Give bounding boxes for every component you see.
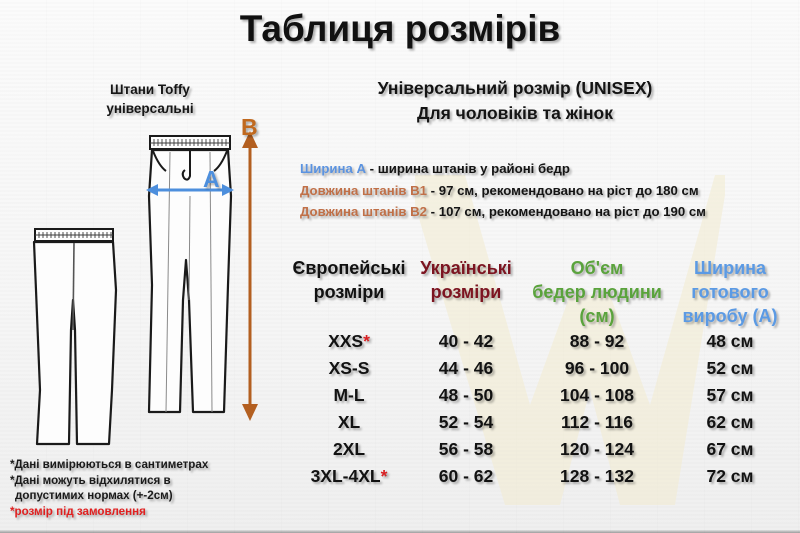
cell-eu-size: XXS* [288,328,410,355]
legend-key-length-b1: Довжина штанів В1 [300,183,427,198]
eu-size-text: XS-S [329,358,370,378]
cell-product-width: 52 см [672,355,788,382]
header-width-line-3: виробу (А) [672,304,788,328]
footnotes: *Дані вимірюються в сантиметрах *Дані мо… [10,457,265,519]
cell-product-width: 67 см [672,436,788,463]
table-row: 2XL 56 - 58 120 - 124 67 см [288,436,788,463]
eu-size-star: * [363,331,370,351]
cell-hip-volume: 104 - 108 [522,382,672,409]
eu-size-text: 3XL-4XL [311,466,381,486]
cell-hip-volume: 96 - 100 [522,355,672,382]
eu-size-star: * [381,466,388,486]
table-row: XL 52 - 54 112 - 116 62 см [288,409,788,436]
cell-ua-size: 60 - 62 [410,463,522,490]
header-ua-line-2: розміри [410,280,522,304]
legend-row-a: Ширина А - ширина штанів у районі бедр [300,158,790,180]
header-hip-line-2: бедер людини [522,280,672,304]
pants-back-view [34,229,116,444]
cell-product-width: 48 см [672,328,788,355]
footnote-line-4: *розмір під замовлення [10,504,265,520]
subtitle-line-2: Для чоловіків та жінок [285,101,745,126]
table-header-row: Європейські розміри Українські розміри О… [288,256,788,328]
size-table: Європейські розміри Українські розміри О… [288,256,788,490]
illustration-caption-line-2: універсальні [55,99,245,118]
table-row: XXS* 40 - 42 88 - 92 48 см [288,328,788,355]
legend-row-b1: Довжина штанів В1 - 97 см, рекомендовано… [300,180,790,202]
cell-ua-size: 48 - 50 [410,382,522,409]
eu-size-text: 2XL [333,439,365,459]
header-hip-line-3: (см) [522,304,672,328]
measurement-arrow-b [242,131,258,421]
footnote-line-1: *Дані вимірюються в сантиметрах [10,457,265,473]
cell-eu-size: 3XL-4XL* [288,463,410,490]
legend-text-length-b2: - 107 см, рекомендовано на ріст до 190 с… [427,204,706,219]
measurement-label-a: А [203,166,220,193]
header-ua-line-1: Українські [410,256,522,280]
table-row: XS-S 44 - 46 96 - 100 52 см [288,355,788,382]
legend-text-width-a: - ширина штанів у районі бедр [366,161,570,176]
header-width-line-1: Ширина [672,256,788,280]
cell-eu-size: XS-S [288,355,410,382]
cell-product-width: 62 см [672,409,788,436]
table-header-ua-sizes: Українські розміри [410,256,522,328]
header-hip-line-1: Об'єм [522,256,672,280]
measurement-legend: Ширина А - ширина штанів у районі бедр Д… [300,158,790,223]
footnote-line-3: допустимих нормах (+-2см) [10,488,265,504]
cell-ua-size: 52 - 54 [410,409,522,436]
table-header-hip-volume: Об'єм бедер людини (см) [522,256,672,328]
legend-key-length-b2: Довжина штанів В2 [300,204,427,219]
eu-size-text: XL [338,412,360,432]
subtitle-line-1: Універсальний розмір (UNISEX) [285,76,745,101]
eu-size-text: M-L [333,385,364,405]
table-header-product-width: Ширина готового виробу (А) [672,256,788,328]
legend-text-length-b1: - 97 см, рекомендовано на ріст до 180 см [427,183,699,198]
cell-eu-size: XL [288,409,410,436]
header-eu-line-1: Європейські [288,256,410,280]
illustration-caption: Штани Toffy універсальні [55,80,245,118]
size-chart-page: Таблиця розмірів Універсальний розмір (U… [0,0,800,533]
cell-hip-volume: 112 - 116 [522,409,672,436]
cell-ua-size: 56 - 58 [410,436,522,463]
cell-ua-size: 40 - 42 [410,328,522,355]
header-eu-line-2: розміри [288,280,410,304]
cell-hip-volume: 88 - 92 [522,328,672,355]
cell-eu-size: M-L [288,382,410,409]
cell-hip-volume: 128 - 132 [522,463,672,490]
table-header-eu-sizes: Європейські розміри [288,256,410,328]
measurement-label-b: В [241,114,258,141]
cell-product-width: 72 см [672,463,788,490]
legend-key-width-a: Ширина А [300,161,366,176]
subtitle-block: Універсальний розмір (UNISEX) Для чолові… [285,76,745,126]
eu-size-text: XXS [328,331,363,351]
header-width-line-2: готового [672,280,788,304]
cell-hip-volume: 120 - 124 [522,436,672,463]
cell-product-width: 57 см [672,382,788,409]
table-row: M-L 48 - 50 104 - 108 57 см [288,382,788,409]
legend-row-b2: Довжина штанів В2 - 107 см, рекомендован… [300,201,790,223]
cell-ua-size: 44 - 46 [410,355,522,382]
table-row: 3XL-4XL* 60 - 62 128 - 132 72 см [288,463,788,490]
cell-eu-size: 2XL [288,436,410,463]
page-title: Таблиця розмірів [0,8,800,50]
measurement-arrow-a [146,184,234,196]
illustration-caption-line-1: Штани Toffy [55,80,245,99]
footnote-line-2: *Дані можуть відхилятися в [10,473,265,489]
